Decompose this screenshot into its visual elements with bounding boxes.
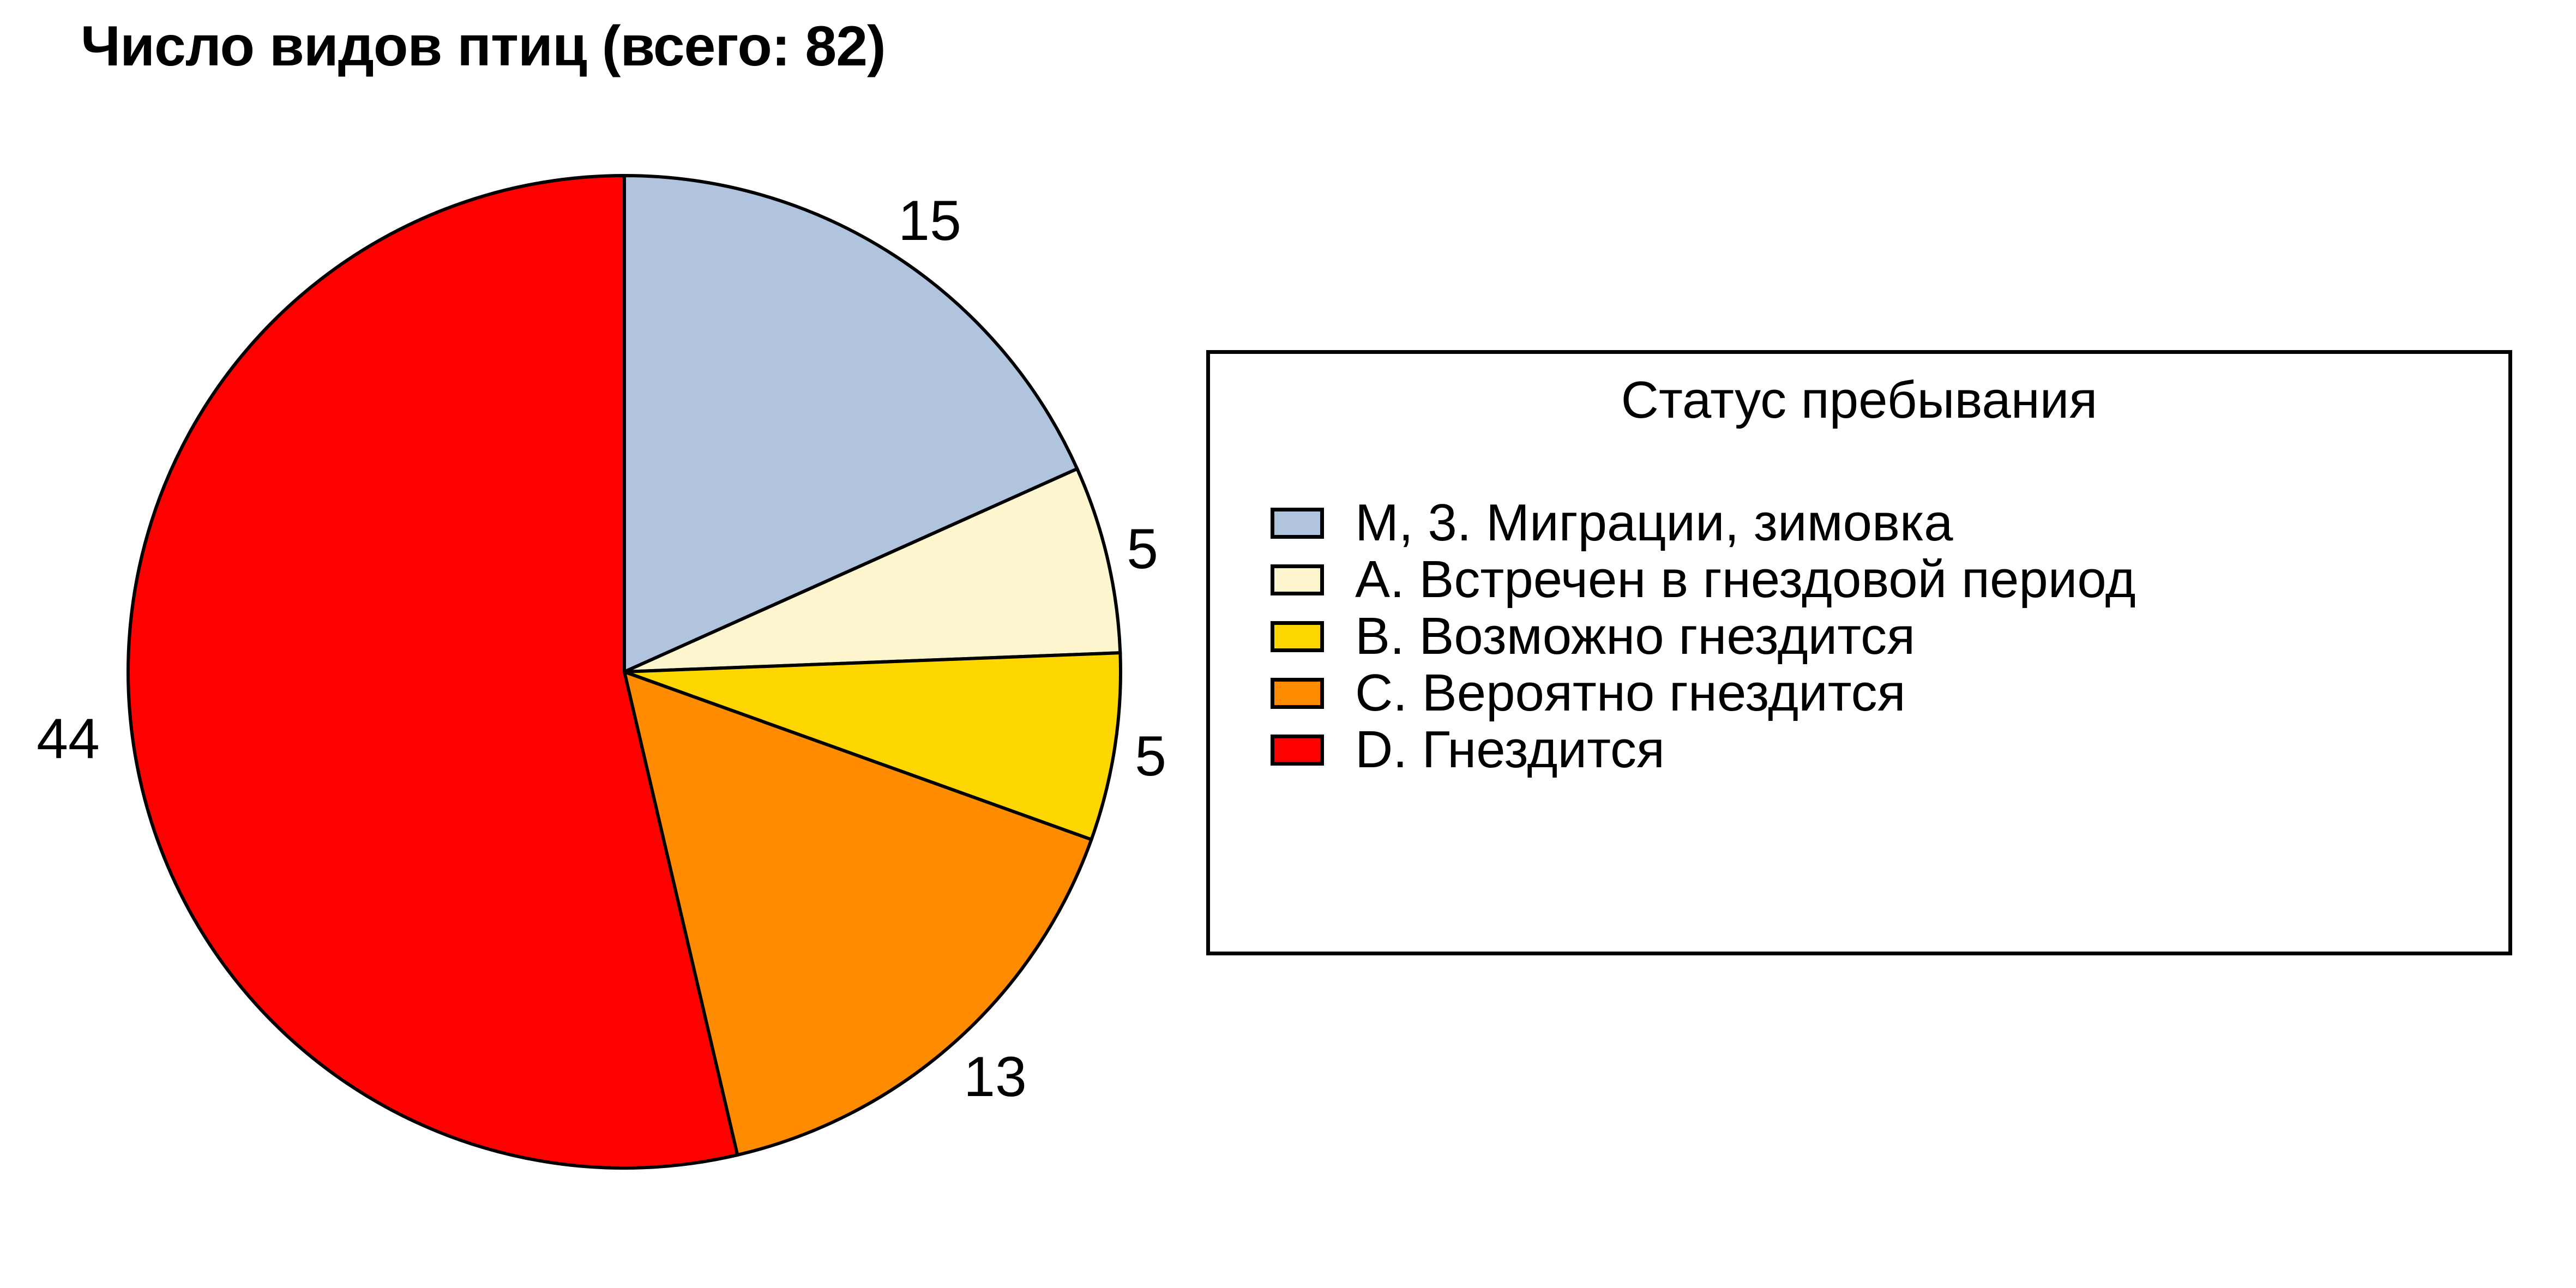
legend-color-swatch bbox=[1271, 735, 1324, 766]
legend-item-label: B. Возможно гнездится bbox=[1355, 610, 1915, 663]
legend-color-swatch bbox=[1271, 678, 1324, 709]
pie-slice-value-label: 13 bbox=[964, 1045, 1027, 1109]
pie-chart-svg: 15551344 bbox=[0, 0, 1254, 1288]
legend-color-swatch bbox=[1271, 621, 1324, 652]
legend-item-list: M, 3. Миграции, зимовкаA. Встречен в гне… bbox=[1271, 495, 2508, 778]
legend-item[interactable]: D. Гнездится bbox=[1271, 721, 2508, 778]
legend-item-label: D. Гнездится bbox=[1355, 724, 1665, 776]
pie-chart-area: 15551344 bbox=[0, 0, 1254, 1288]
legend-item-label: M, 3. Миграции, зимовка bbox=[1355, 497, 1953, 549]
pie-slice-value-label: 15 bbox=[898, 189, 961, 252]
legend-item-label: C. Вероятно гнездится bbox=[1355, 667, 1906, 719]
pie-slice-value-label: 5 bbox=[1127, 517, 1158, 581]
pie-slice-group bbox=[128, 176, 1121, 1168]
legend-item[interactable]: A. Встречен в гнездовой период bbox=[1271, 551, 2508, 608]
legend-item-label: A. Встречен в гнездовой период bbox=[1355, 553, 2136, 606]
legend-box: Статус пребывания M, 3. Миграции, зимовк… bbox=[1206, 350, 2512, 955]
legend-title: Статус пребывания bbox=[1210, 370, 2508, 430]
pie-slice-value-label: 5 bbox=[1135, 725, 1166, 788]
legend-item[interactable]: M, 3. Миграции, зимовка bbox=[1271, 495, 2508, 551]
legend-color-swatch bbox=[1271, 508, 1324, 539]
chart-canvas: Число видов птиц (всего: 82) 15551344 Ст… bbox=[0, 0, 2576, 1288]
legend-item[interactable]: C. Вероятно гнездится bbox=[1271, 665, 2508, 721]
pie-slice-value-label: 44 bbox=[37, 707, 100, 771]
legend-item[interactable]: B. Возможно гнездится bbox=[1271, 608, 2508, 665]
legend-color-swatch bbox=[1271, 564, 1324, 595]
